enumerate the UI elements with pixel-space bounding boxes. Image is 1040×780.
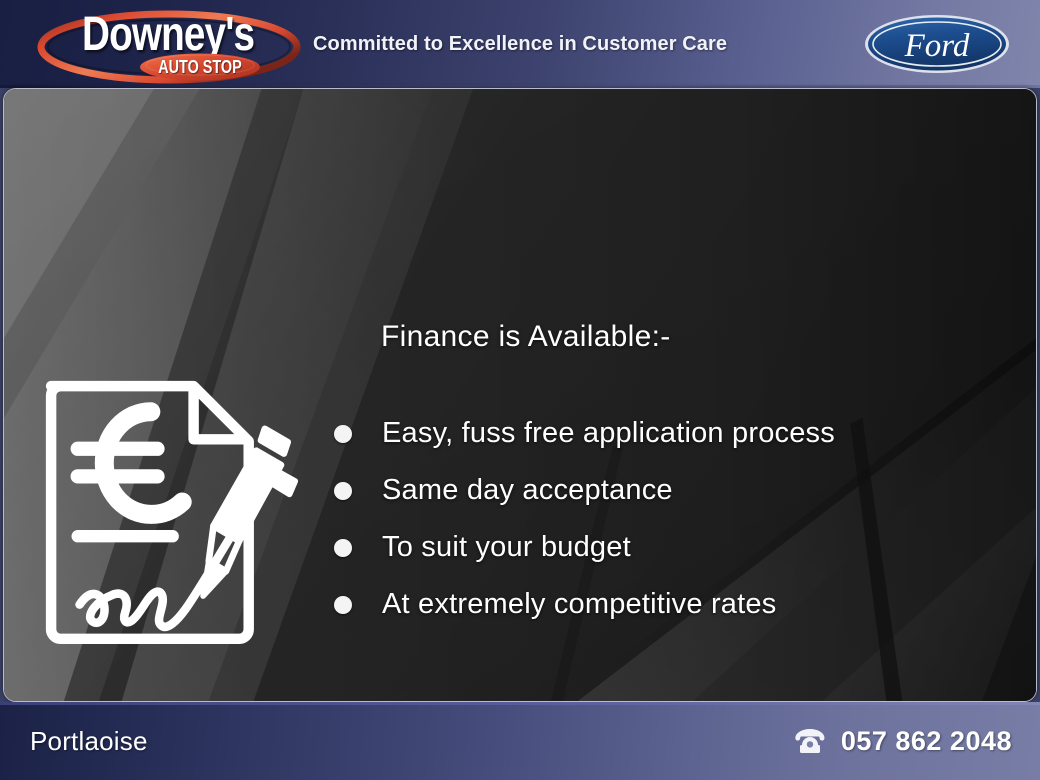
- phone-number: 057 862 2048: [841, 724, 1012, 758]
- svg-text:Ford: Ford: [904, 28, 970, 64]
- bullet-dot-icon: [334, 539, 352, 557]
- main-content-panel: Finance is Available:- Easy, fuss free a…: [3, 88, 1037, 702]
- page-title: Finance is Available:-: [381, 318, 671, 356]
- finance-promo-poster: Downey's AUTO STOP Committed to Excellen…: [0, 0, 1040, 780]
- ford-logo-icon[interactable]: Ford: [863, 13, 1011, 75]
- euro-document-signature-icon: [34, 369, 319, 654]
- bullet-dot-icon: [334, 482, 352, 500]
- list-item-label: Easy, fuss free application process: [382, 417, 835, 449]
- dealer-logo[interactable]: Downey's AUTO STOP: [34, 3, 304, 87]
- list-item: To suit your budget: [332, 519, 1032, 576]
- page-footer: Portlaoise 057 862 2048: [0, 702, 1040, 780]
- list-item: Easy, fuss free application process: [332, 405, 1032, 462]
- list-item-label: Same day acceptance: [382, 474, 673, 506]
- list-item: At extremely competitive rates: [332, 576, 1032, 633]
- benefits-list: Easy, fuss free application process Same…: [332, 405, 1032, 633]
- location-label: Portlaoise: [30, 724, 148, 758]
- contact-phone[interactable]: 057 862 2048: [793, 724, 1012, 758]
- bullet-dot-icon: [334, 596, 352, 614]
- tagline: Committed to Excellence in Customer Care: [313, 31, 727, 57]
- page-header: Downey's AUTO STOP Committed to Excellen…: [0, 0, 1040, 88]
- telephone-icon: [793, 728, 827, 754]
- bullet-dot-icon: [334, 425, 352, 443]
- list-item-label: At extremely competitive rates: [382, 588, 776, 620]
- logo-brand-sub: AUTO STOP: [151, 56, 249, 78]
- list-item-label: To suit your budget: [382, 531, 631, 563]
- list-item: Same day acceptance: [332, 462, 1032, 519]
